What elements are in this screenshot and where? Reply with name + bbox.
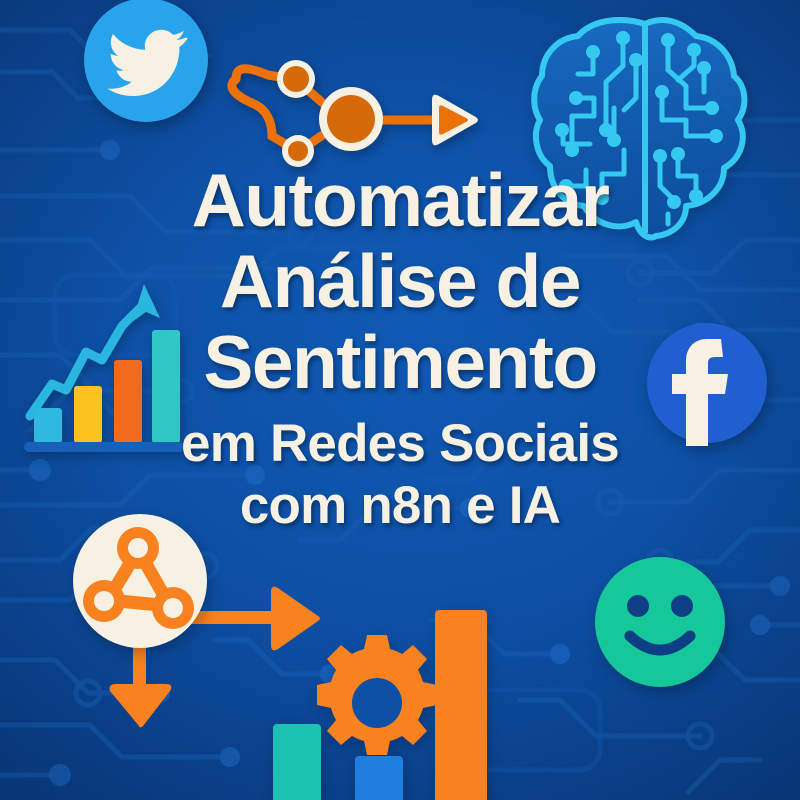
chart-bar bbox=[435, 610, 487, 800]
twitter-icon[interactable] bbox=[76, 0, 216, 138]
page-title-line-2: Análise de bbox=[0, 241, 800, 322]
workflow-node-small-top[interactable] bbox=[277, 60, 315, 98]
smiley-face-circle bbox=[595, 557, 725, 687]
page-subtitle-line-1: em Redes Sociais bbox=[0, 413, 800, 475]
poster-text-block: Automatizar Análise de Sentimento em Red… bbox=[0, 160, 800, 537]
smiley-left-eye bbox=[627, 595, 649, 617]
chart-bar bbox=[355, 756, 403, 800]
page-title-line-3: Sentimento bbox=[0, 322, 800, 403]
smiley-right-eye bbox=[671, 595, 693, 617]
n8n-workflow-node-group[interactable] bbox=[60, 508, 350, 758]
workflow-node-main[interactable] bbox=[319, 87, 383, 151]
social-media-poster: Automatizar Análise de Sentimento em Red… bbox=[0, 0, 800, 800]
positive-sentiment-smiley-icon[interactable] bbox=[592, 552, 732, 694]
page-subtitle-line-2: com n8n e IA bbox=[0, 475, 800, 537]
page-title-line-1: Automatizar bbox=[0, 160, 800, 241]
play-triangle-icon[interactable] bbox=[432, 95, 478, 146]
